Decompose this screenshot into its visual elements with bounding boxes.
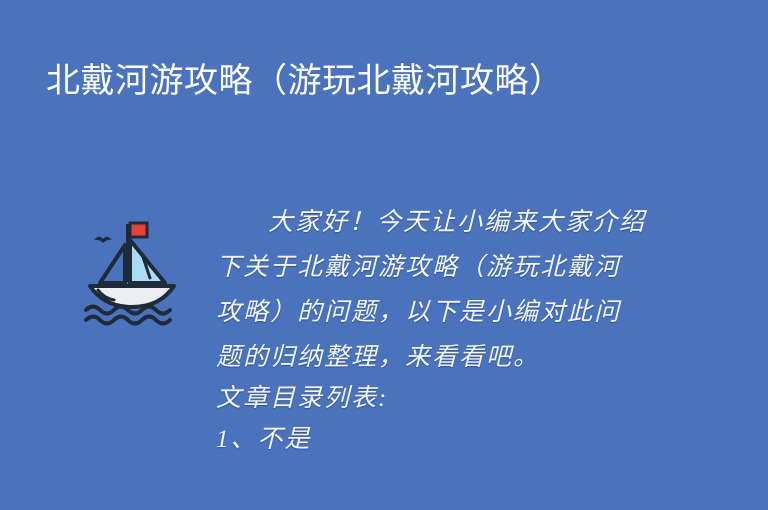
fore-sail-shape	[100, 245, 125, 283]
article-body: 大家好！今天让小编来大家介绍下关于北戴河游攻略（游玩北戴河攻略）的问题，以下是小…	[0, 196, 768, 510]
water-wave-bottom	[86, 317, 170, 324]
page-title: 北戴河游攻略（游玩北戴河攻略）	[46, 56, 646, 106]
body-text-column: 大家好！今天让小编来大家介绍下关于北戴河游攻略（游玩北戴河攻略）的问题，以下是小…	[216, 200, 646, 460]
toc-item[interactable]: 1、不是	[216, 419, 646, 460]
intro-paragraph: 大家好！今天让小编来大家介绍下关于北戴河游攻略（游玩北戴河攻略）的问题，以下是小…	[216, 200, 646, 380]
sailboat-icon	[82, 214, 182, 326]
toc-block: 文章目录列表: 1、不是	[216, 378, 646, 460]
toc-heading: 文章目录列表:	[216, 378, 646, 419]
main-sail-shape	[130, 240, 165, 283]
article-page: 北戴河游攻略（游玩北戴河攻略）	[0, 0, 768, 510]
bird-icon	[94, 237, 112, 243]
sailboat-illustration	[82, 214, 182, 326]
flag-shape	[130, 223, 147, 237]
water-wave-top	[86, 307, 170, 314]
